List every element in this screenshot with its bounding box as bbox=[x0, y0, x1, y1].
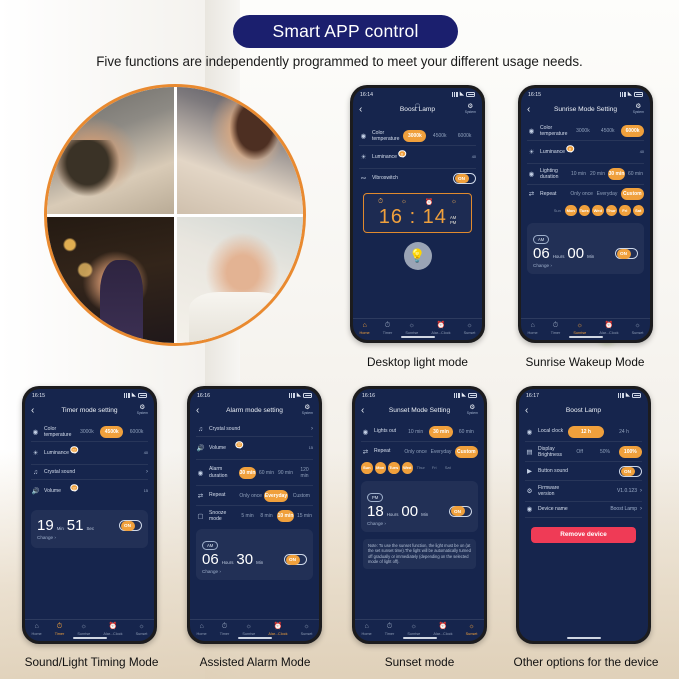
home-icon: ⌂ bbox=[362, 322, 366, 330]
device-icon: ◉ bbox=[525, 505, 534, 513]
alarm-clock-icon: ⏰ bbox=[425, 198, 433, 206]
tab-alarm-clock[interactable]: ⏰Alar...Clock bbox=[431, 322, 450, 335]
home-indicator bbox=[73, 637, 107, 639]
alarm-minutes[interactable]: 00 bbox=[567, 246, 584, 261]
sunset-toggle-state: ON bbox=[451, 506, 465, 515]
row-color-temperature: ◉ Color temperature 3000k 4500k 6000k bbox=[31, 422, 148, 442]
volume-label: Volume bbox=[209, 445, 235, 451]
sunrise-icon: ☼ bbox=[246, 623, 252, 631]
status-bar: 16:15 ◣ bbox=[521, 88, 650, 101]
row-luminance: ☀ Luminance 22 040 bbox=[31, 442, 148, 465]
lights-out-icon: ◉ bbox=[361, 428, 370, 436]
page-subtitle: Five functions are independently program… bbox=[0, 54, 679, 69]
tab-sunset[interactable]: ☼Sunset bbox=[466, 623, 478, 636]
status-time: 16:15 bbox=[528, 92, 541, 98]
alarm-clock-icon: ⏰ bbox=[439, 623, 448, 631]
gear-icon[interactable]: ⚙System bbox=[633, 103, 644, 116]
caption-assisted-alarm-mode: Assisted Alarm Mode bbox=[180, 655, 330, 669]
lighting-duration-label: Lighting duration bbox=[540, 168, 566, 180]
alarm-hours[interactable]: 06 bbox=[202, 552, 219, 567]
option-10min[interactable]: 10 min bbox=[570, 168, 587, 180]
option-6000k[interactable]: 6000k bbox=[125, 426, 148, 438]
nav-bar: ‹ Timer mode setting ⚙System bbox=[25, 402, 154, 419]
volume-knob[interactable]: 12 bbox=[70, 484, 78, 492]
timer-card: 19 Min 51 Sec ON Change › bbox=[31, 510, 148, 548]
option-30min[interactable]: 30 min bbox=[239, 467, 256, 479]
tab-alarm-clock[interactable]: ⏰Alar...Clock bbox=[433, 623, 452, 636]
firmware-label: Firmware version bbox=[538, 485, 570, 497]
option-100[interactable]: 100% bbox=[619, 446, 642, 458]
option-4500k[interactable]: 4500k bbox=[596, 125, 619, 137]
row-vibroswitch: ∾ Vibroswitch ON bbox=[359, 169, 476, 187]
tab-home[interactable]: ⌂Home bbox=[360, 322, 370, 335]
nav-title: Boost Lamp bbox=[519, 407, 648, 414]
option-everyday[interactable]: Everyday bbox=[429, 446, 452, 458]
local-clock-segmented[interactable]: 12 h 24 h bbox=[568, 426, 642, 438]
tab-alarm-clock[interactable]: ⏰Alar...Clock bbox=[268, 623, 287, 636]
lights-out-segmented[interactable]: 10 min 30 min 60 min bbox=[404, 426, 478, 438]
clock-mode-icons: ⏱ ☼ ⏰ ☼ bbox=[369, 198, 466, 206]
color-temp-icon: ◉ bbox=[527, 127, 536, 135]
gear-label: System bbox=[302, 410, 313, 417]
sunset-hours[interactable]: 18 bbox=[367, 504, 384, 519]
luminance-knob[interactable]: 22 bbox=[70, 446, 78, 454]
display-brightness-segmented[interactable]: Off 50% 100% bbox=[568, 446, 642, 458]
color-temp-label: Color temperature bbox=[540, 125, 567, 137]
battery-icon bbox=[138, 393, 147, 398]
row-lighting-duration: ◉ Lighting duration 10 min 20 min 30 min… bbox=[527, 164, 644, 184]
volume-label: Volume bbox=[44, 488, 70, 494]
luminance-slider[interactable]: 8 1 40 bbox=[402, 150, 476, 165]
lights-out-label: Lights out bbox=[374, 428, 400, 434]
tab-home-label: Home bbox=[360, 331, 370, 335]
alarm-clock-icon: ⏰ bbox=[437, 322, 446, 330]
snooze-label: Snooze mode bbox=[209, 510, 235, 522]
battery-icon bbox=[632, 393, 641, 398]
alarm-change-link[interactable]: Change › bbox=[202, 569, 307, 574]
nav-bar: ‹ Alarm mode setting ⚙System bbox=[190, 402, 319, 419]
chevron-right-icon[interactable]: › bbox=[640, 488, 642, 494]
remove-device-button[interactable]: Remove device bbox=[531, 527, 636, 543]
timer-icon: ⏱ bbox=[57, 623, 62, 631]
status-bar: 16:16 ◣ bbox=[355, 389, 484, 402]
alarm-toggle-state: ON bbox=[286, 555, 300, 564]
alarm-clock-icon: ⏰ bbox=[274, 623, 283, 631]
row-volume: 🔊 Volume 12 115 bbox=[196, 437, 313, 460]
tab-sunrise[interactable]: ☼Sunrise bbox=[242, 623, 255, 636]
option-3000k[interactable]: 3000k bbox=[403, 130, 426, 142]
luminance-slider[interactable]: 8 140 bbox=[570, 145, 644, 160]
option-3000k[interactable]: 3000k bbox=[571, 125, 594, 137]
lighting-duration-segmented[interactable]: 10 min 20 min 30 min 60 min bbox=[570, 168, 644, 180]
option-5min[interactable]: 5 min bbox=[239, 510, 256, 522]
photo-woman-reading-book-in-bed bbox=[177, 87, 304, 214]
music-note-icon: ♫ bbox=[31, 469, 40, 476]
nav-title: Sunset Mode Setting bbox=[355, 407, 484, 414]
button-sound-toggle[interactable]: ON bbox=[619, 466, 642, 477]
tab-timer-label: Timer bbox=[55, 632, 65, 636]
option-only-once[interactable]: Only once bbox=[404, 446, 427, 458]
sunrise-icon: ☼ bbox=[81, 623, 87, 631]
tab-sunset[interactable]: ☼Sunset bbox=[301, 623, 313, 636]
timer-minutes-unit: Min bbox=[57, 526, 64, 531]
option-only-once[interactable]: Only once bbox=[239, 490, 262, 502]
timer-seconds[interactable]: 51 bbox=[67, 518, 84, 533]
option-everyday[interactable]: Everyday bbox=[595, 188, 618, 200]
gear-label: System bbox=[465, 109, 476, 116]
clock-pm: PM bbox=[450, 220, 456, 225]
tab-sunrise[interactable]: ☼Sunrise bbox=[77, 623, 90, 636]
timer-toggle[interactable]: ON bbox=[119, 520, 142, 531]
duration-icon: ◉ bbox=[196, 469, 205, 477]
home-indicator bbox=[569, 336, 603, 338]
option-24h[interactable]: 24 h bbox=[606, 426, 642, 438]
volume-icon: 🔊 bbox=[31, 487, 40, 495]
local-clock-label: Local clock bbox=[538, 428, 564, 434]
repeat-segmented[interactable]: Only once Everyday Custom bbox=[239, 490, 313, 502]
option-custom[interactable]: Custom bbox=[455, 446, 478, 458]
option-20min[interactable]: 20 min bbox=[589, 168, 606, 180]
repeat-icon: ⇄ bbox=[196, 492, 205, 500]
status-time: 16:15 bbox=[32, 393, 45, 399]
volume-icon: 🔊 bbox=[196, 444, 205, 452]
firmware-icon: ⚙ bbox=[525, 487, 534, 495]
nav-title: Sunrise Mode Setting bbox=[521, 106, 650, 113]
button-sound-label: Button sound bbox=[538, 468, 570, 474]
row-display-brightness: ▤ Display Brightness Off 50% 100% bbox=[525, 442, 642, 462]
signal-icon bbox=[289, 393, 295, 398]
sunset-icon: ☼ bbox=[138, 623, 144, 631]
day-sat[interactable]: Sat bbox=[633, 205, 645, 217]
tab-home[interactable]: ⌂Home bbox=[197, 623, 207, 636]
home-icon: ⌂ bbox=[530, 322, 534, 330]
alarm-ampm[interactable]: AM bbox=[202, 541, 218, 550]
day-fri[interactable]: Fri bbox=[619, 205, 631, 217]
luminance-max: 40 bbox=[640, 150, 644, 154]
caption-sound-light-timing-mode: Sound/Light Timing Mode bbox=[4, 655, 179, 669]
alarm-duration-label: Alarm duration bbox=[209, 466, 235, 478]
timer-minutes[interactable]: 19 bbox=[37, 518, 54, 533]
luminance-label: Luminance bbox=[44, 450, 70, 456]
row-crystal-sound[interactable]: ♫ Crystal sound › bbox=[196, 422, 313, 437]
brightness-icon: ☀ bbox=[31, 449, 40, 457]
alarm-ampm[interactable]: AM bbox=[533, 235, 549, 244]
tab-timer[interactable]: ⏱Timer bbox=[551, 322, 561, 335]
wifi-icon: ◣ bbox=[462, 393, 466, 399]
volume-max: 15 bbox=[144, 489, 148, 493]
option-90min[interactable]: 90 min bbox=[277, 467, 294, 479]
signal-icon bbox=[618, 393, 624, 398]
luminance-knob[interactable]: 8 bbox=[566, 145, 574, 153]
gear-icon[interactable]: ⚙System bbox=[302, 404, 313, 417]
tab-home[interactable]: ⌂Home bbox=[528, 322, 538, 335]
row-color-temperature: ◉ Color temperature 3000k 4500k 6000k bbox=[527, 121, 644, 141]
status-bar: 16:16 ◣ bbox=[190, 389, 319, 402]
option-4500k[interactable]: 4500k bbox=[428, 130, 451, 142]
sunset-minutes[interactable]: 00 bbox=[401, 504, 418, 519]
chevron-right-icon[interactable]: › bbox=[146, 469, 148, 475]
tab-timer-label: Timer bbox=[220, 632, 230, 636]
color-temp-icon: ◉ bbox=[359, 132, 368, 140]
option-120min[interactable]: 120 min bbox=[296, 464, 313, 482]
tab-sunset[interactable]: ☼Sunset bbox=[632, 322, 644, 335]
sunset-icon: ☼ bbox=[451, 198, 457, 206]
alarm-toggle-state: ON bbox=[617, 249, 631, 258]
tab-sunset[interactable]: ☼Sunset bbox=[136, 623, 148, 636]
color-temp-label: Color temperature bbox=[372, 130, 399, 142]
display-brightness-label: Display Brightness bbox=[538, 446, 564, 458]
clock-display-card: ⏱ ☼ ⏰ ☼ 16 : 14 AM PM bbox=[363, 193, 472, 233]
tab-sunrise[interactable]: ☼Sunrise bbox=[405, 322, 418, 335]
phone-sunrise-wakeup-mode: 16:15 ◣ ‹ Sunrise Mode Setting ⚙System ◉… bbox=[518, 85, 653, 343]
tab-alarm-clock-label: Alar...Clock bbox=[268, 632, 287, 636]
option-15min[interactable]: 15 min bbox=[296, 510, 313, 522]
sunrise-icon: ☼ bbox=[401, 198, 407, 206]
sunset-toggle[interactable]: ON bbox=[449, 506, 472, 517]
tab-sunrise[interactable]: ☼Sunrise bbox=[573, 322, 586, 335]
alarm-hours[interactable]: 06 bbox=[533, 246, 550, 261]
tab-sunrise-label: Sunrise bbox=[242, 632, 255, 636]
luminance-knob[interactable]: 8 bbox=[398, 150, 406, 158]
music-note-icon: ♫ bbox=[196, 426, 205, 433]
option-custom[interactable]: Custom bbox=[290, 490, 313, 502]
tab-alarm-clock-label: Alar...Clock bbox=[103, 632, 122, 636]
volume-knob[interactable]: 12 bbox=[235, 441, 243, 449]
option-off[interactable]: Off bbox=[568, 446, 591, 458]
day-fri[interactable]: Fri bbox=[429, 462, 441, 474]
day-sun[interactable]: Sun bbox=[552, 205, 564, 217]
row-repeat: ⇄ Repeat Only once Everyday Custom bbox=[196, 486, 313, 506]
option-6000k[interactable]: 6000k bbox=[453, 130, 476, 142]
sunset-note: Note: To use the sunset function, the li… bbox=[363, 539, 476, 569]
crystal-sound-label: Crystal sound bbox=[209, 426, 241, 432]
row-repeat: ⇄ Repeat Only once Everyday Custom bbox=[361, 442, 478, 461]
crystal-sound-label: Crystal sound bbox=[44, 469, 76, 475]
battery-icon bbox=[468, 393, 477, 398]
row-firmware-version[interactable]: ⚙ Firmware version V1.0.123 › bbox=[525, 481, 642, 501]
row-device-name[interactable]: ◉ Device name Boost Lamp › bbox=[525, 502, 642, 518]
row-snooze-mode: ▢ Snooze mode 5 min 8 min 10 min 15 min bbox=[196, 506, 313, 525]
tab-home-label: Home bbox=[197, 632, 207, 636]
caption-other-options: Other options for the device bbox=[496, 655, 676, 669]
timer-change-link[interactable]: Change › bbox=[37, 535, 142, 540]
sunset-icon: ☼ bbox=[303, 623, 309, 631]
sunrise-icon: ☼ bbox=[411, 623, 417, 631]
tab-timer-label: Timer bbox=[383, 331, 393, 335]
option-60min[interactable]: 60 min bbox=[258, 467, 275, 479]
row-alarm-duration: ◉ Alarm duration 30 min 60 min 90 min 12… bbox=[196, 460, 313, 486]
firmware-value: V1.0.123 bbox=[617, 488, 637, 494]
tab-timer[interactable]: ⏱Timer bbox=[383, 322, 393, 335]
home-icon: ⌂ bbox=[364, 623, 368, 631]
signal-icon bbox=[124, 393, 130, 398]
alarm-toggle[interactable]: ON bbox=[615, 248, 638, 259]
gear-label: System bbox=[467, 410, 478, 417]
tab-home[interactable]: ⌂Home bbox=[32, 623, 42, 636]
tab-home[interactable]: ⌂Home bbox=[362, 623, 372, 636]
repeat-label: Repeat bbox=[209, 492, 235, 498]
status-time: 16:16 bbox=[197, 393, 210, 399]
day-sat[interactable]: Sat bbox=[442, 462, 454, 474]
option-everyday[interactable]: Everyday bbox=[264, 490, 287, 502]
timer-icon: ⏱ bbox=[385, 322, 390, 330]
vibroswitch-label: Vibroswitch bbox=[372, 175, 404, 181]
wifi-icon: ◣ bbox=[297, 393, 301, 399]
snooze-icon: ▢ bbox=[196, 512, 205, 520]
phone-timer-mode-setting: 16:15 ◣ ‹ Timer mode setting ⚙System ◉ C… bbox=[22, 386, 157, 644]
option-60min[interactable]: 60 min bbox=[455, 426, 478, 438]
option-4500k[interactable]: 4500k bbox=[100, 426, 123, 438]
battery-icon bbox=[634, 92, 643, 97]
gear-icon[interactable]: ⚙System bbox=[467, 404, 478, 417]
row-lights-out: ◉ Lights out 10 min 30 min 60 min bbox=[361, 422, 478, 442]
sunset-change-link[interactable]: Change › bbox=[367, 521, 472, 526]
tab-sunrise-label: Sunrise bbox=[407, 632, 420, 636]
battery-icon bbox=[466, 92, 475, 97]
day-thur[interactable]: Thur bbox=[415, 462, 427, 474]
repeat-icon: ⇄ bbox=[361, 448, 370, 456]
alarm-change-link[interactable]: Change › bbox=[533, 263, 638, 268]
home-icon: ⌂ bbox=[199, 623, 203, 631]
volume-slider[interactable]: 12 015 bbox=[74, 484, 148, 499]
sunset-icon: ☼ bbox=[634, 322, 640, 330]
button-sound-toggle-state: ON bbox=[621, 467, 635, 476]
status-bar: 16:14 ◣ bbox=[353, 88, 482, 101]
sunset-icon: ☼ bbox=[468, 623, 474, 631]
sunset-time-card: PM 18 Hours 00 Min ON Change › bbox=[361, 481, 478, 532]
option-custom[interactable]: Custom bbox=[621, 188, 644, 200]
color-temp-segmented[interactable]: 3000k 4500k 6000k bbox=[403, 130, 476, 142]
duration-icon: ◉ bbox=[527, 170, 536, 178]
tab-alarm-clock-label: Alar...Clock bbox=[599, 331, 618, 335]
day-wed[interactable]: Wed bbox=[402, 462, 414, 474]
option-12h[interactable]: 12 h bbox=[568, 426, 604, 438]
tab-sunrise-label: Sunrise bbox=[573, 331, 586, 335]
option-only-once[interactable]: Only once bbox=[570, 188, 593, 200]
day-thur[interactable]: Thur bbox=[606, 205, 618, 217]
alarm-duration-segmented[interactable]: 30 min 60 min 90 min 120 min bbox=[239, 464, 313, 482]
vibroswitch-toggle[interactable]: ON bbox=[453, 173, 476, 184]
row-volume: 🔊 Volume 12 015 bbox=[31, 480, 148, 502]
color-temp-icon: ◉ bbox=[31, 428, 40, 436]
timer-icon: ⏱ bbox=[222, 623, 227, 631]
vibrate-icon: ∾ bbox=[359, 174, 368, 182]
tab-sunset-label: Sunset bbox=[466, 632, 478, 636]
day-tues[interactable]: Tues bbox=[579, 205, 591, 217]
alarm-minutes[interactable]: 30 bbox=[236, 552, 253, 567]
luminance-max: 40 bbox=[472, 155, 476, 159]
status-bar: 16:15 ◣ bbox=[25, 389, 154, 402]
option-3000k[interactable]: 3000k bbox=[75, 426, 98, 438]
wifi-icon: ◣ bbox=[628, 92, 632, 98]
nav-bar: ‹ Sunset Mode Setting ⚙System bbox=[355, 402, 484, 419]
device-name-label: Device name bbox=[538, 506, 570, 512]
option-50[interactable]: 50% bbox=[593, 446, 616, 458]
caption-sunrise-wakeup-mode: Sunrise Wakeup Mode bbox=[510, 355, 660, 369]
battery-icon bbox=[303, 393, 312, 398]
chevron-right-icon[interactable]: › bbox=[311, 426, 313, 432]
timer-toggle-state: ON bbox=[121, 521, 135, 530]
caption-sunset-mode: Sunset mode bbox=[352, 655, 487, 669]
repeat-label: Repeat bbox=[540, 191, 566, 197]
tab-sunset-label: Sunset bbox=[464, 331, 476, 335]
weekday-selector[interactable]: Sun Mon Tues Wed Thur Fri Sat bbox=[361, 461, 478, 477]
snooze-segmented[interactable]: 5 min 8 min 10 min 15 min bbox=[239, 510, 313, 522]
alarm-toggle[interactable]: ON bbox=[284, 554, 307, 565]
sunset-icon: ☼ bbox=[466, 322, 472, 330]
photo-woman-sleeping-in-bed bbox=[47, 87, 174, 214]
tab-timer[interactable]: ⏱Timer bbox=[55, 623, 65, 636]
tab-timer[interactable]: ⏱Timer bbox=[220, 623, 230, 636]
option-10min[interactable]: 10 min bbox=[277, 510, 294, 522]
volume-slider[interactable]: 12 115 bbox=[239, 441, 313, 456]
sunrise-icon: ☼ bbox=[409, 322, 415, 330]
tab-timer-label: Timer bbox=[385, 632, 395, 636]
weekday-selector[interactable]: Sun Mon Tues Wed Thur Fri Sat bbox=[527, 204, 644, 220]
option-10min[interactable]: 10 min bbox=[404, 426, 427, 438]
sunset-ampm[interactable]: PM bbox=[367, 493, 383, 502]
tab-alarm-clock-label: Alar...Clock bbox=[431, 331, 450, 335]
tab-timer-label: Timer bbox=[551, 331, 561, 335]
timer-icon: ⏱ bbox=[553, 322, 558, 330]
tab-timer[interactable]: ⏱Timer bbox=[385, 623, 395, 636]
alarm-time-card: AM 06 Hours 30 Min ON Change › bbox=[196, 529, 313, 580]
day-mon[interactable]: Mon bbox=[565, 205, 577, 217]
chevron-right-icon[interactable]: › bbox=[640, 506, 642, 512]
day-mon[interactable]: Mon bbox=[375, 462, 387, 474]
nav-title: Alarm mode setting bbox=[190, 407, 319, 414]
luminance-label: Luminance bbox=[372, 154, 398, 160]
vibroswitch-toggle-state: ON bbox=[455, 174, 469, 183]
timer-icon: ⏱ bbox=[378, 198, 383, 206]
color-temp-segmented[interactable]: 3000k 4500k 6000k bbox=[75, 426, 148, 438]
gear-icon[interactable]: ⚙System bbox=[137, 404, 148, 417]
light-bulb-power-button[interactable]: 💡 bbox=[404, 242, 432, 270]
day-tues[interactable]: Tues bbox=[388, 462, 400, 474]
tab-alarm-clock[interactable]: ⏰Alar...Clock bbox=[599, 322, 618, 335]
color-temp-label: Color temperature bbox=[44, 426, 71, 438]
clock-digits: 16 : 14 bbox=[379, 207, 447, 227]
lifestyle-photo-collage bbox=[44, 84, 306, 346]
day-wed[interactable]: Wed bbox=[592, 205, 604, 217]
home-indicator bbox=[238, 637, 272, 639]
home-indicator bbox=[403, 637, 437, 639]
home-icon: ⌂ bbox=[34, 623, 38, 631]
timer-icon: ⏱ bbox=[387, 623, 392, 631]
option-60min[interactable]: 60 min bbox=[627, 168, 644, 180]
tab-sunrise[interactable]: ☼Sunrise bbox=[407, 623, 420, 636]
tab-alarm-clock[interactable]: ⏰Alar...Clock bbox=[103, 623, 122, 636]
repeat-segmented[interactable]: Only once Everyday Custom bbox=[570, 188, 644, 200]
phone-device-options: 16:17 ◣ ‹ Boost Lamp ◉ Local clock 12 h … bbox=[516, 386, 651, 644]
option-30min[interactable]: 30 min bbox=[429, 426, 452, 438]
option-6000k[interactable]: 6000k bbox=[621, 125, 644, 137]
option-8min[interactable]: 8 min bbox=[258, 510, 275, 522]
repeat-segmented[interactable]: Only once Everyday Custom bbox=[404, 446, 478, 458]
luminance-slider[interactable]: 22 040 bbox=[74, 446, 148, 461]
row-crystal-sound[interactable]: ♫ Crystal sound › bbox=[31, 465, 148, 480]
tab-sunset[interactable]: ☼Sunset bbox=[464, 322, 476, 335]
device-badge-icon: ▢ bbox=[353, 103, 482, 109]
color-temp-segmented[interactable]: 3000k 4500k 6000k bbox=[571, 125, 644, 137]
tab-sunrise-label: Sunrise bbox=[77, 632, 90, 636]
tab-home-label: Home bbox=[528, 331, 538, 335]
phone-desktop-light-mode: 16:14 ◣ ‹ Boost Lamp ⚙System ▢ ◉ Color t… bbox=[350, 85, 485, 343]
sunset-hours-unit: Hours bbox=[387, 512, 399, 517]
option-30min[interactable]: 30 min bbox=[608, 168, 625, 180]
tab-home-label: Home bbox=[32, 632, 42, 636]
day-sun[interactable]: Sun bbox=[361, 462, 373, 474]
